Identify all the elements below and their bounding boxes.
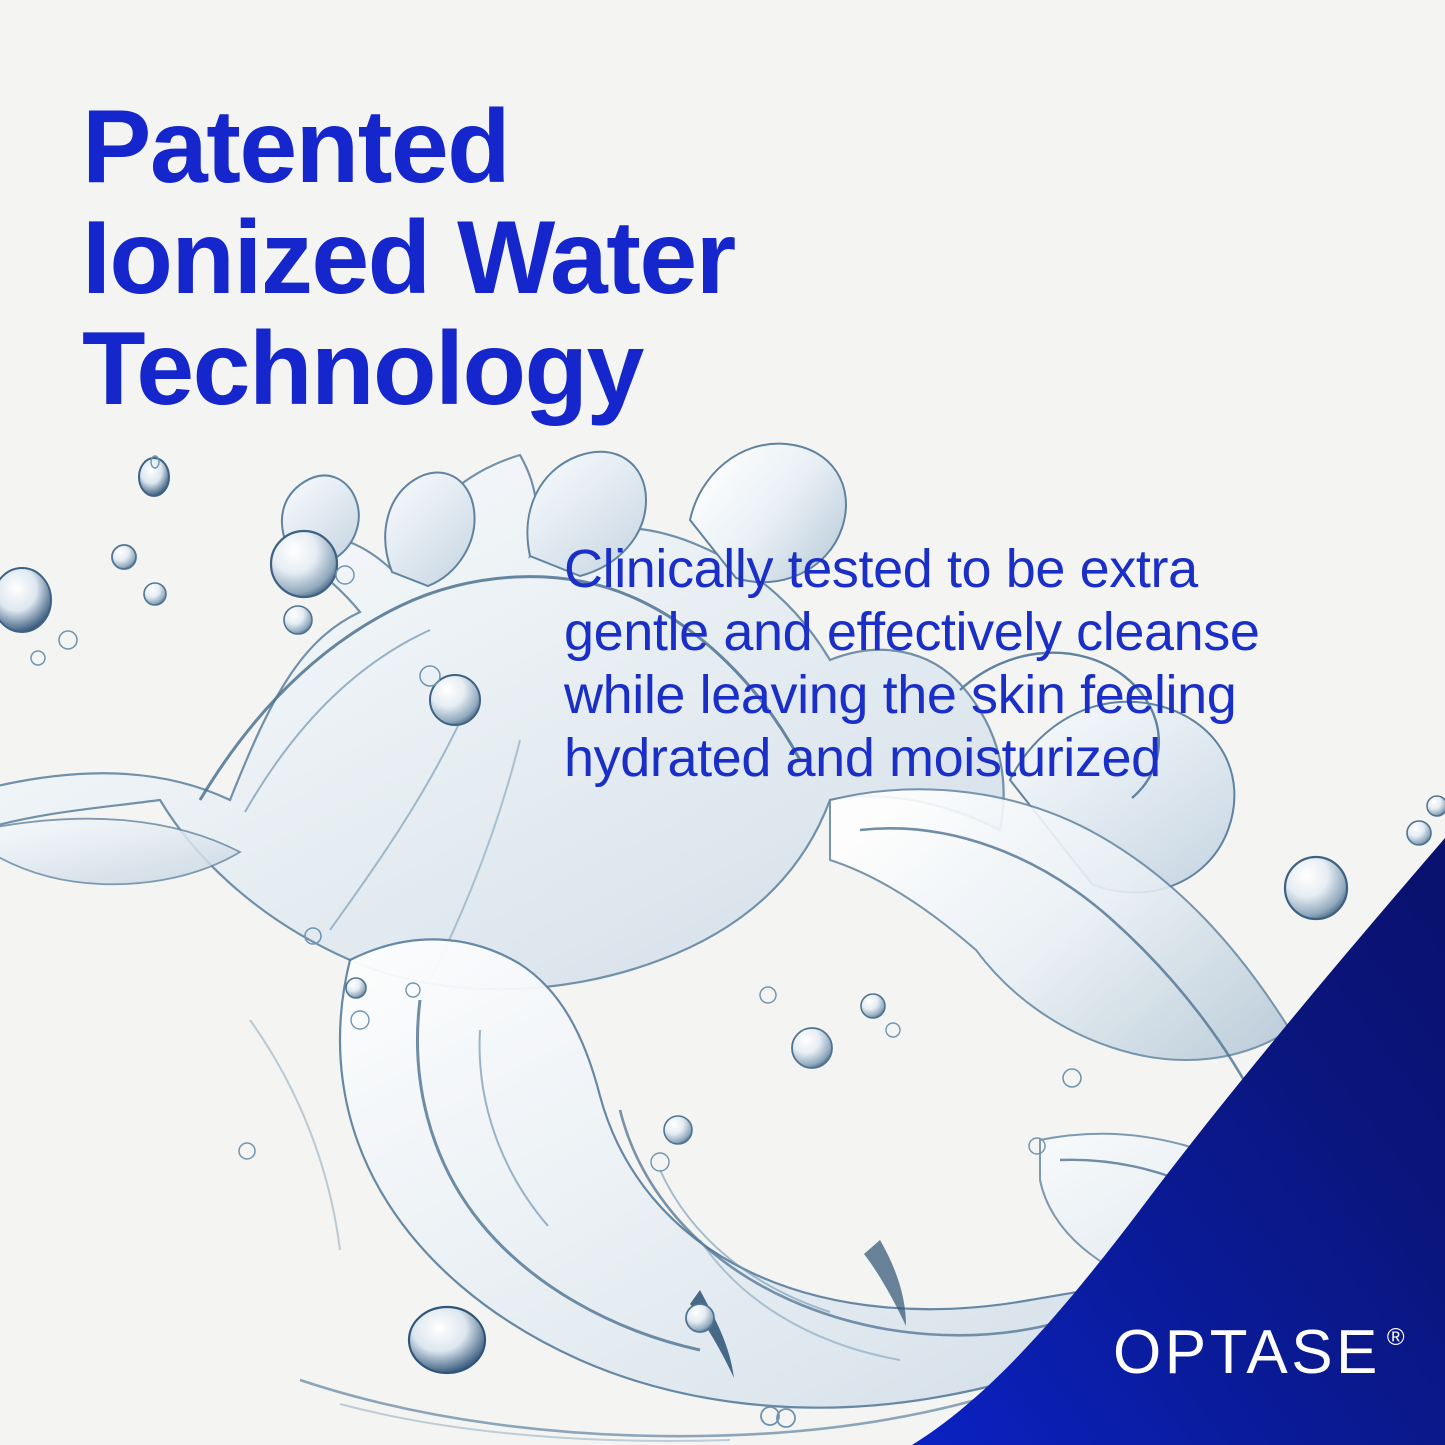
product-feature-card: Patented Ionized Water Technology Clinic…: [0, 0, 1445, 1445]
brand-logo-text: OPTASE: [1113, 1322, 1381, 1384]
page-title: Patented Ionized Water Technology: [82, 92, 962, 425]
description-text: Clinically tested to be extra gentle and…: [564, 538, 1394, 790]
registered-trademark-icon: ®: [1387, 1326, 1405, 1350]
brand-logo: OPTASE ®: [1113, 1322, 1405, 1384]
